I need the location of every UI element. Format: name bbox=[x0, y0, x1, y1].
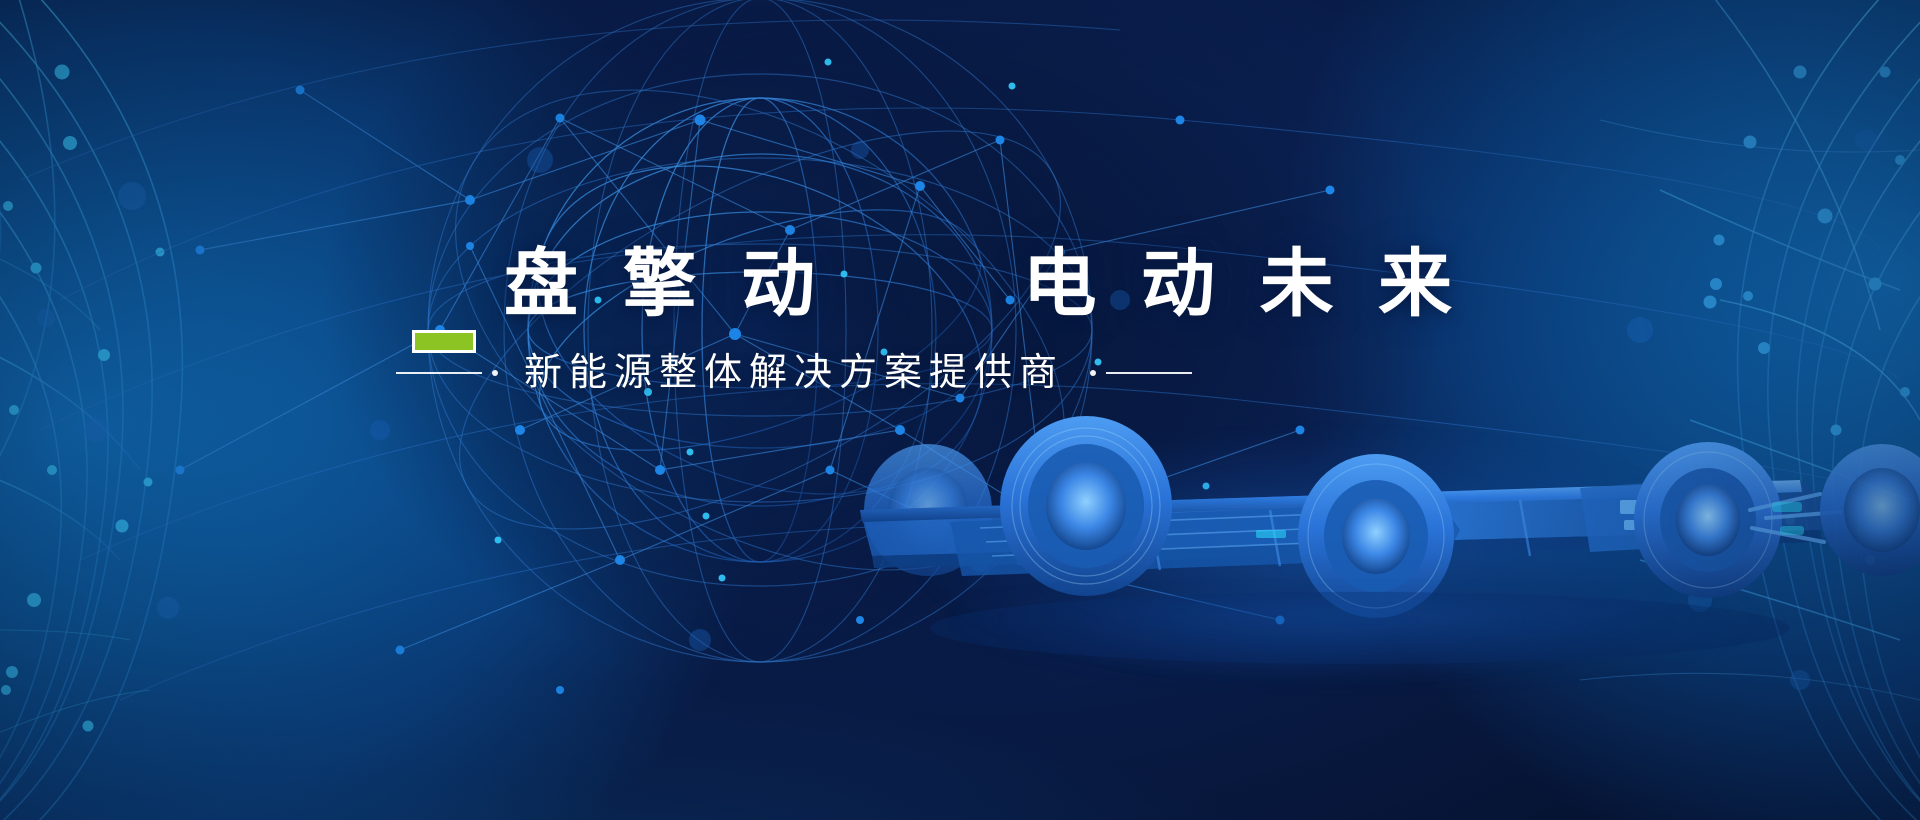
page-subtitle: 新能源整体解决方案提供商 bbox=[524, 354, 1064, 392]
page-title: 盘 擎 动 电 动 未 来 bbox=[504, 247, 1464, 321]
vignette-overlay bbox=[0, 0, 1920, 820]
deco-line-segment bbox=[1106, 372, 1192, 374]
accent-bar-yi-glyph bbox=[412, 330, 476, 353]
decorative-line-left bbox=[396, 370, 498, 376]
decorative-line-right bbox=[1090, 370, 1192, 376]
deco-dot bbox=[1090, 370, 1096, 376]
headline-row: 盘 擎 动 电 动 未 来 bbox=[318, 236, 1608, 332]
subtitle-row: 新能源整体解决方案提供商 bbox=[396, 354, 1608, 392]
hero-content: 盘 擎 动 电 动 未 来 新能源整体解决方案提供商 bbox=[318, 236, 1608, 392]
hero-banner: 盘 擎 动 电 动 未 来 新能源整体解决方案提供商 bbox=[0, 0, 1920, 820]
deco-dot bbox=[492, 370, 498, 376]
deco-line-segment bbox=[396, 372, 482, 374]
